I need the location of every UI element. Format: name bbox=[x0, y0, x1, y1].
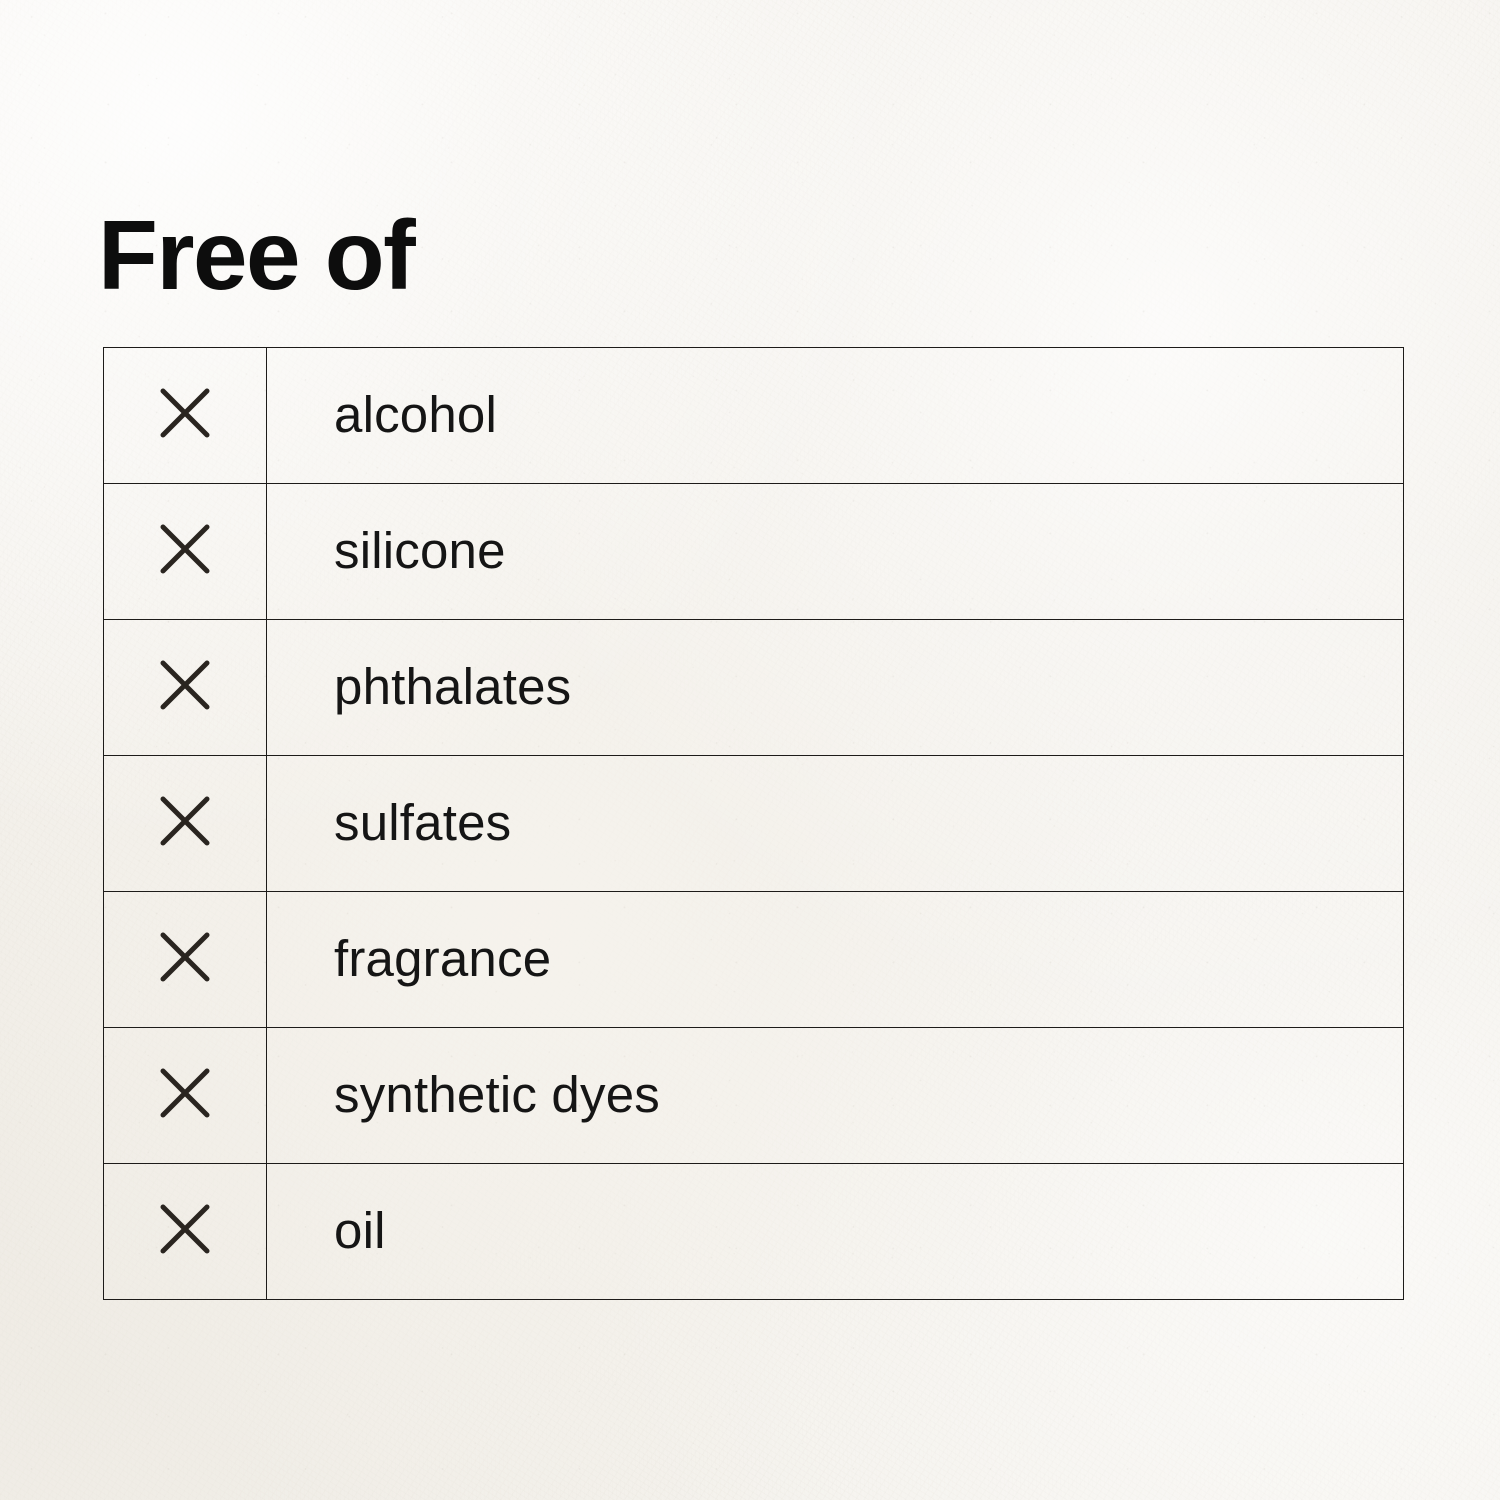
ingredient-label: phthalates bbox=[267, 620, 1403, 712]
x-mark-icon-glyph bbox=[160, 524, 210, 574]
x-mark-icon-glyph bbox=[160, 388, 210, 438]
x-mark-icon bbox=[104, 1164, 266, 1299]
free-of-table: alcohol silicone bbox=[103, 347, 1404, 1300]
table-cell-mark bbox=[104, 892, 267, 1028]
table-cell-mark bbox=[104, 756, 267, 892]
x-mark-icon-glyph bbox=[160, 796, 210, 846]
table-cell-mark bbox=[104, 620, 267, 756]
ingredient-label: synthetic dyes bbox=[267, 1028, 1403, 1120]
x-mark-icon-glyph bbox=[160, 1068, 210, 1118]
table-row: oil bbox=[104, 1164, 1404, 1300]
x-mark-icon bbox=[104, 756, 266, 891]
table-cell-label: oil bbox=[267, 1164, 1404, 1300]
x-mark-icon-glyph bbox=[160, 1204, 210, 1254]
table-row: phthalates bbox=[104, 620, 1404, 756]
table-cell-mark bbox=[104, 1164, 267, 1300]
x-mark-icon bbox=[104, 348, 266, 483]
table-cell-mark bbox=[104, 484, 267, 620]
free-of-card: Free of alcohol bbox=[0, 0, 1500, 1500]
table-cell-label: synthetic dyes bbox=[267, 1028, 1404, 1164]
table-cell-label: silicone bbox=[267, 484, 1404, 620]
x-mark-icon bbox=[104, 484, 266, 619]
ingredient-label: fragrance bbox=[267, 892, 1403, 984]
x-mark-icon-glyph bbox=[160, 660, 210, 710]
x-mark-icon-glyph bbox=[160, 932, 210, 982]
ingredient-label: silicone bbox=[267, 484, 1403, 576]
table-cell-mark bbox=[104, 348, 267, 484]
table-cell-mark bbox=[104, 1028, 267, 1164]
table-row: alcohol bbox=[104, 348, 1404, 484]
x-mark-icon bbox=[104, 620, 266, 755]
table-row: fragrance bbox=[104, 892, 1404, 1028]
table-row: synthetic dyes bbox=[104, 1028, 1404, 1164]
x-mark-icon bbox=[104, 1028, 266, 1163]
table-row: silicone bbox=[104, 484, 1404, 620]
table-cell-label: fragrance bbox=[267, 892, 1404, 1028]
ingredient-label: sulfates bbox=[267, 756, 1403, 848]
ingredient-label: alcohol bbox=[267, 348, 1403, 440]
table-cell-label: sulfates bbox=[267, 756, 1404, 892]
table-row: sulfates bbox=[104, 756, 1404, 892]
free-of-table-body: alcohol silicone bbox=[104, 348, 1404, 1300]
table-cell-label: alcohol bbox=[267, 348, 1404, 484]
table-cell-label: phthalates bbox=[267, 620, 1404, 756]
ingredient-label: oil bbox=[267, 1164, 1403, 1256]
page-title: Free of bbox=[98, 206, 414, 304]
x-mark-icon bbox=[104, 892, 266, 1027]
